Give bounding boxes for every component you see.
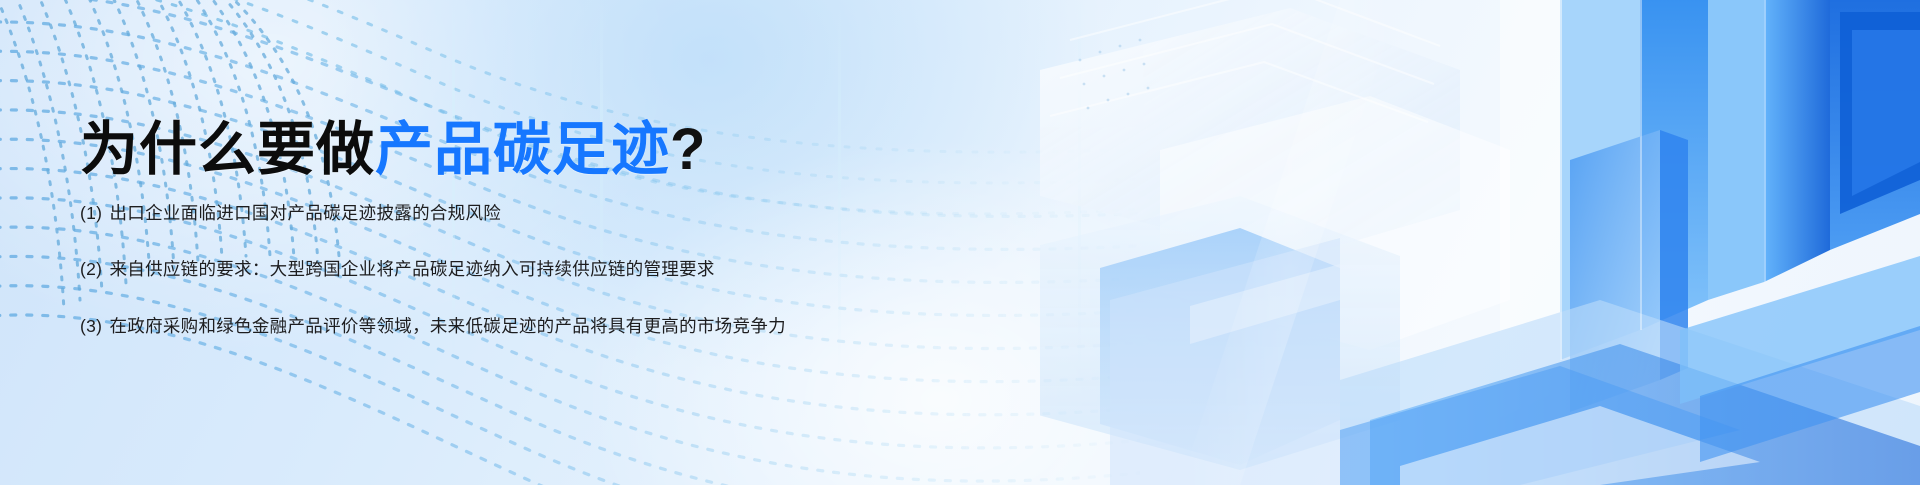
list-item-text: 来自供应链的要求：大型跨国企业将产品碳足迹纳入可持续供应链的管理要求 <box>109 259 714 279</box>
list-item-index: (3) <box>80 316 102 336</box>
list-item-index: (1) <box>80 203 102 223</box>
list-item: (1) 出口企业面临进口国对产品碳足迹披露的合规风险 <box>80 200 1060 226</box>
hero-banner: 为什么要做产品碳足迹? (1) 出口企业面临进口国对产品碳足迹披露的合规风险 (… <box>0 0 1920 485</box>
list-item-text: 在政府采购和绿色金融产品评价等领域，未来低碳足迹的产品将具有更高的市场竞争力 <box>109 316 785 336</box>
isometric-glass-blocks-graphic <box>1040 0 1920 485</box>
banner-content: 为什么要做产品碳足迹? (1) 出口企业面临进口国对产品碳足迹披露的合规风险 (… <box>0 0 1100 485</box>
page-title: 为什么要做产品碳足迹? <box>80 117 706 184</box>
title-accent: 产品碳足迹 <box>375 117 670 182</box>
list-item-text: 出口企业面临进口国对产品碳足迹披露的合规风险 <box>109 203 501 223</box>
title-lead: 为什么要做 <box>80 117 375 182</box>
list-item: (3) 在政府采购和绿色金融产品评价等领域，未来低碳足迹的产品将具有更高的市场竞… <box>80 313 1060 339</box>
list-item-index: (2) <box>80 259 102 279</box>
list-item: (2) 来自供应链的要求：大型跨国企业将产品碳足迹纳入可持续供应链的管理要求 <box>80 256 1060 282</box>
bullet-list: (1) 出口企业面临进口国对产品碳足迹披露的合规风险 (2) 来自供应链的要求：… <box>80 200 1060 339</box>
title-question-mark: ? <box>670 117 706 182</box>
